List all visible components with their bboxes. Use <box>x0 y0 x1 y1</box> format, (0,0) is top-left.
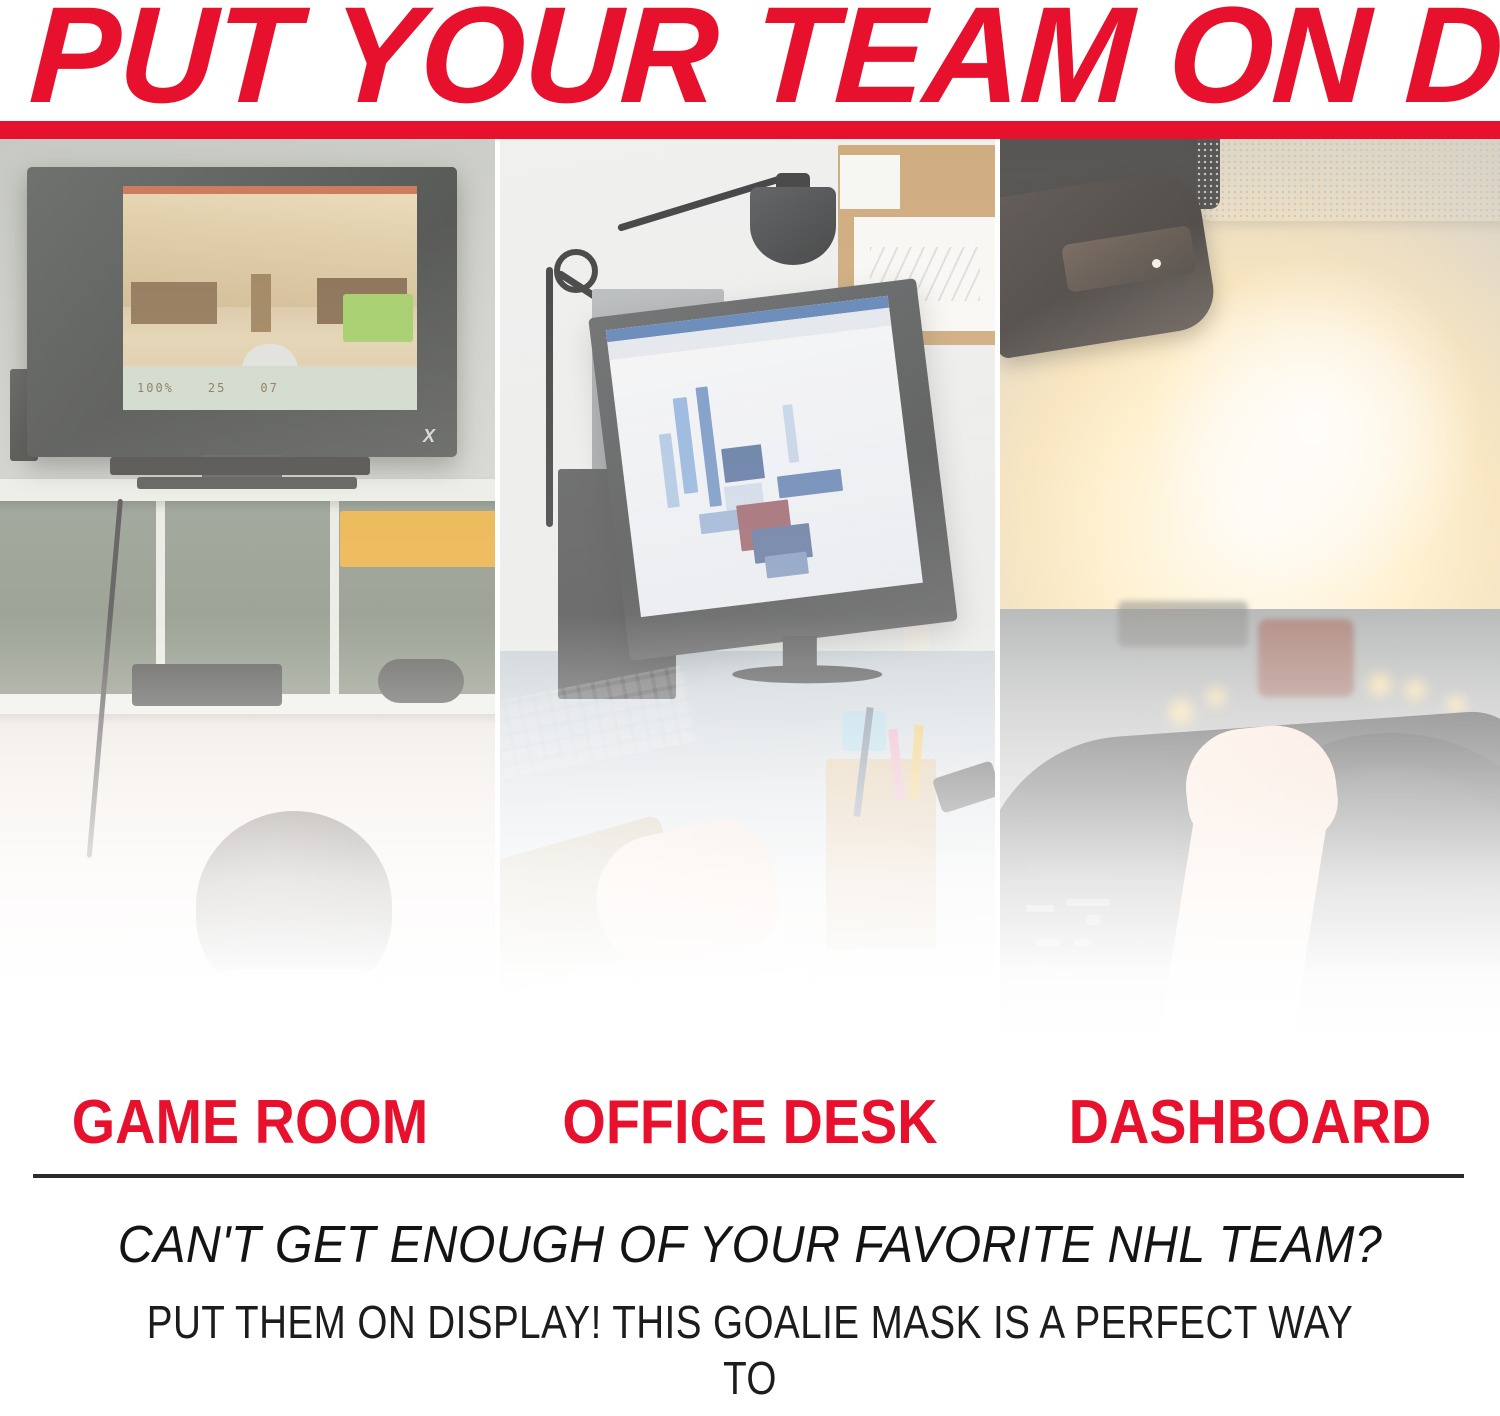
caption-game-room: GAME ROOM <box>25 1086 475 1172</box>
body-copy: PUT THEM ON DISPLAY! THIS GOALIE MASK IS… <box>120 1294 1380 1416</box>
distant-vehicle <box>1118 601 1248 647</box>
photo-panel-office-desk <box>500 139 1000 1044</box>
tv-screen: 100% 25 07 <box>123 186 417 410</box>
game-wall-left <box>131 282 217 324</box>
caption-dashboard: DASHBOARD <box>1025 1086 1475 1172</box>
pinned-note <box>840 155 900 209</box>
game-pillar <box>251 274 271 332</box>
lamp-post <box>546 267 553 527</box>
horizontal-rule <box>33 1174 1464 1178</box>
game-console <box>132 664 282 706</box>
promo-poster: PUT YOUR TEAM ON DISPLAY! <box>0 0 1500 1416</box>
soundbar <box>110 457 370 475</box>
console-button <box>1036 939 1060 946</box>
bokeh-light <box>1404 679 1426 701</box>
cad-drawing <box>648 370 881 594</box>
mirror-highlight <box>1152 259 1161 268</box>
headline-red-bar <box>0 121 1500 139</box>
caption-office-desk: OFFICE DESK <box>525 1086 975 1172</box>
console-button <box>1030 965 1048 972</box>
panel-captions: GAME ROOM OFFICE DESK DASHBOARD <box>0 1086 1500 1172</box>
air-vent <box>1026 779 1176 875</box>
body-copy-line-2: REPRESENT YOUR TEAM WHILE ADDING DECORAT… <box>120 1406 1380 1416</box>
console-button <box>1074 939 1090 946</box>
headline-text: PUT YOUR TEAM ON DISPLAY! <box>27 0 1500 126</box>
lifestyle-photo-strip: 100% 25 07 X <box>0 139 1500 1044</box>
console-button <box>1058 969 1072 976</box>
tagline: CAN'T GET ENOUGH OF YOUR FAVORITE NHL TE… <box>53 1216 1448 1274</box>
office-desk-scene <box>500 139 1000 1044</box>
game-room-scene: 100% 25 07 X <box>0 139 500 1044</box>
photo-panel-game-room: 100% 25 07 X <box>0 139 500 1044</box>
game-ceiling-trim <box>123 186 417 194</box>
cabinet-divider <box>330 501 339 696</box>
photo-panel-dashboard <box>1000 139 1500 1044</box>
hud-ammo: 25 <box>208 381 226 395</box>
console-button <box>1086 915 1100 925</box>
bokeh-light <box>1368 673 1392 697</box>
console-button <box>1066 899 1110 906</box>
bokeh-light <box>1168 699 1194 725</box>
television: 100% 25 07 X <box>27 167 457 457</box>
console-button <box>1026 905 1054 912</box>
hud-health: 100% <box>137 381 174 395</box>
dashboard-scene <box>1000 139 1500 1044</box>
desk-lamp-shade <box>750 187 836 265</box>
monitor-base <box>732 665 882 683</box>
hud-score: 07 <box>260 381 278 395</box>
vehicle-ahead <box>1258 619 1354 697</box>
sun-visor <box>1196 139 1500 221</box>
game-grass-patch <box>343 294 413 342</box>
monitor-screen <box>606 296 923 617</box>
headline-banner: PUT YOUR TEAM ON DISPLAY! <box>0 0 1500 140</box>
console-button <box>1028 1005 1040 1015</box>
storage-box <box>340 511 500 567</box>
bokeh-light <box>1206 687 1226 707</box>
primary-monitor <box>588 278 958 661</box>
lamp-hinge <box>554 249 598 293</box>
pen-holder <box>826 759 936 949</box>
tv-brand-logo: X <box>423 426 435 447</box>
body-copy-line-1: PUT THEM ON DISPLAY! THIS GOALIE MASK IS… <box>120 1294 1380 1406</box>
tv-base <box>137 477 357 489</box>
game-controller <box>378 659 464 703</box>
game-hud: 100% 25 07 <box>123 366 417 410</box>
